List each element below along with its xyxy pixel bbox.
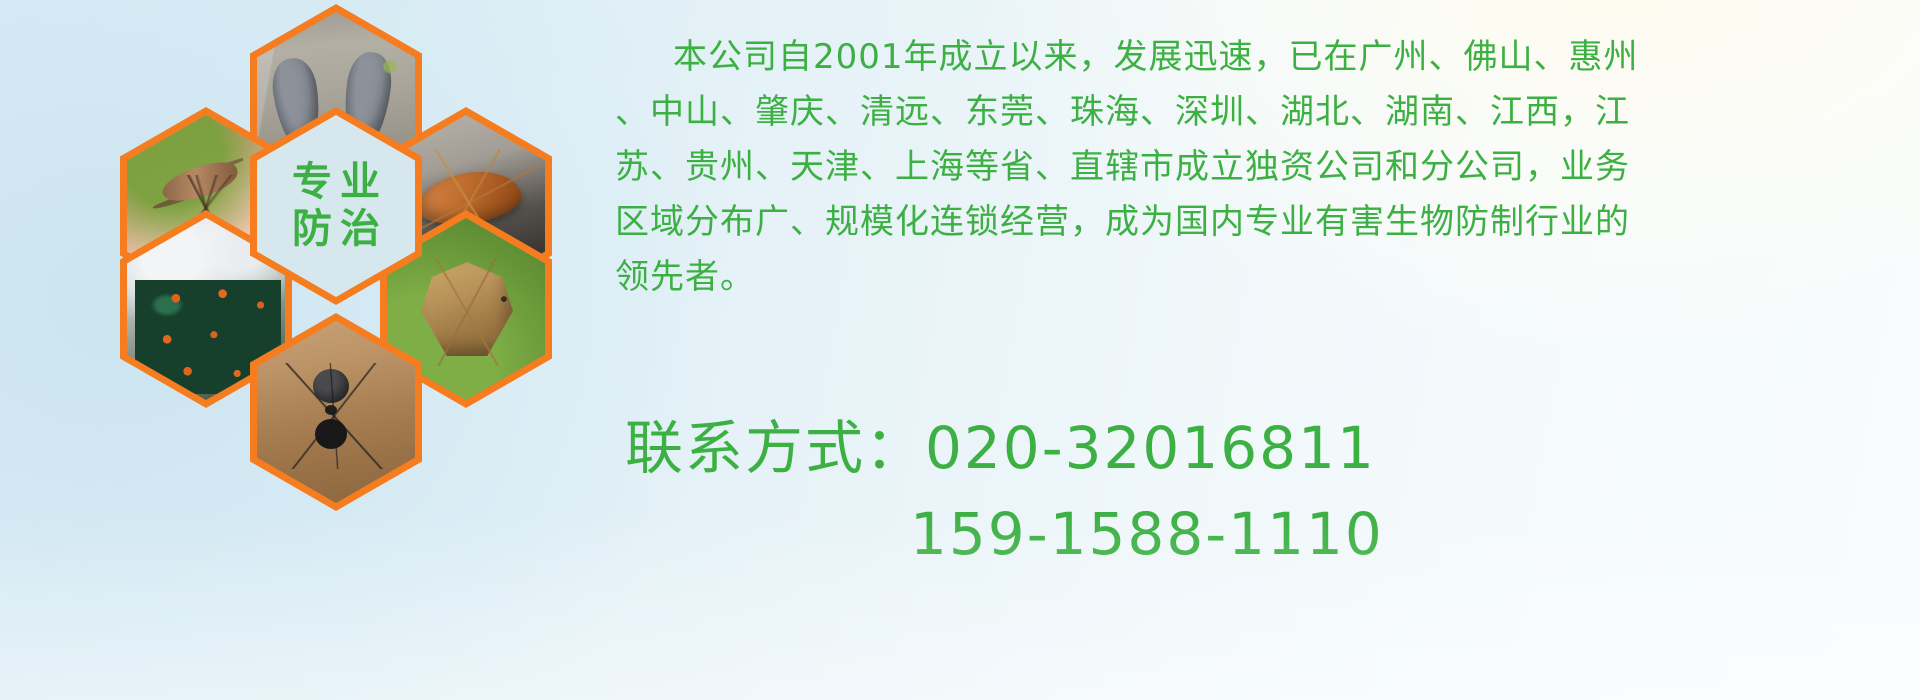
intro-line-4: 区域分布广、规模化连锁经营，成为国内专业有害生物防制行业的 — [615, 195, 1905, 250]
contact-phone-mobile[interactable]: 159-1588-1110 — [625, 491, 1875, 577]
contact-phone-landline[interactable]: 联系方式：020-32016811 — [625, 405, 1875, 491]
slogan-line-2: 防治 — [284, 209, 388, 250]
hex-inner — [257, 321, 415, 503]
contact-block: 联系方式：020-32016811 159-1588-1110 — [625, 405, 1875, 577]
intro-line-3: 苏、贵州、天津、上海等省、直辖市成立独资公司和分公司，业务 — [615, 140, 1905, 195]
intro-paragraph: 本公司自2001年成立以来，发展迅速，已在广州、佛山、惠州 、中山、肇庆、清远、… — [615, 30, 1905, 305]
intro-line-1: 本公司自2001年成立以来，发展迅速，已在广州、佛山、惠州 — [615, 30, 1905, 85]
ant-photo — [257, 321, 415, 503]
center-slogan: 专业 防治 — [257, 115, 415, 297]
intro-line-5: 领先者。 — [615, 250, 1905, 305]
slogan-line-1: 专业 — [284, 162, 388, 203]
intro-line-2: 、中山、肇庆、清远、东莞、珠海、深圳、湖北、湖南、江西，江 — [615, 85, 1905, 140]
hex-cluster: 专业 防治 — [80, 0, 600, 554]
promo-banner: 专业 防治 本公司自2001年成立以来，发展迅速，已在广州、佛山、惠州 、中山、… — [0, 0, 1920, 700]
hex-inner: 专业 防治 — [257, 115, 415, 297]
